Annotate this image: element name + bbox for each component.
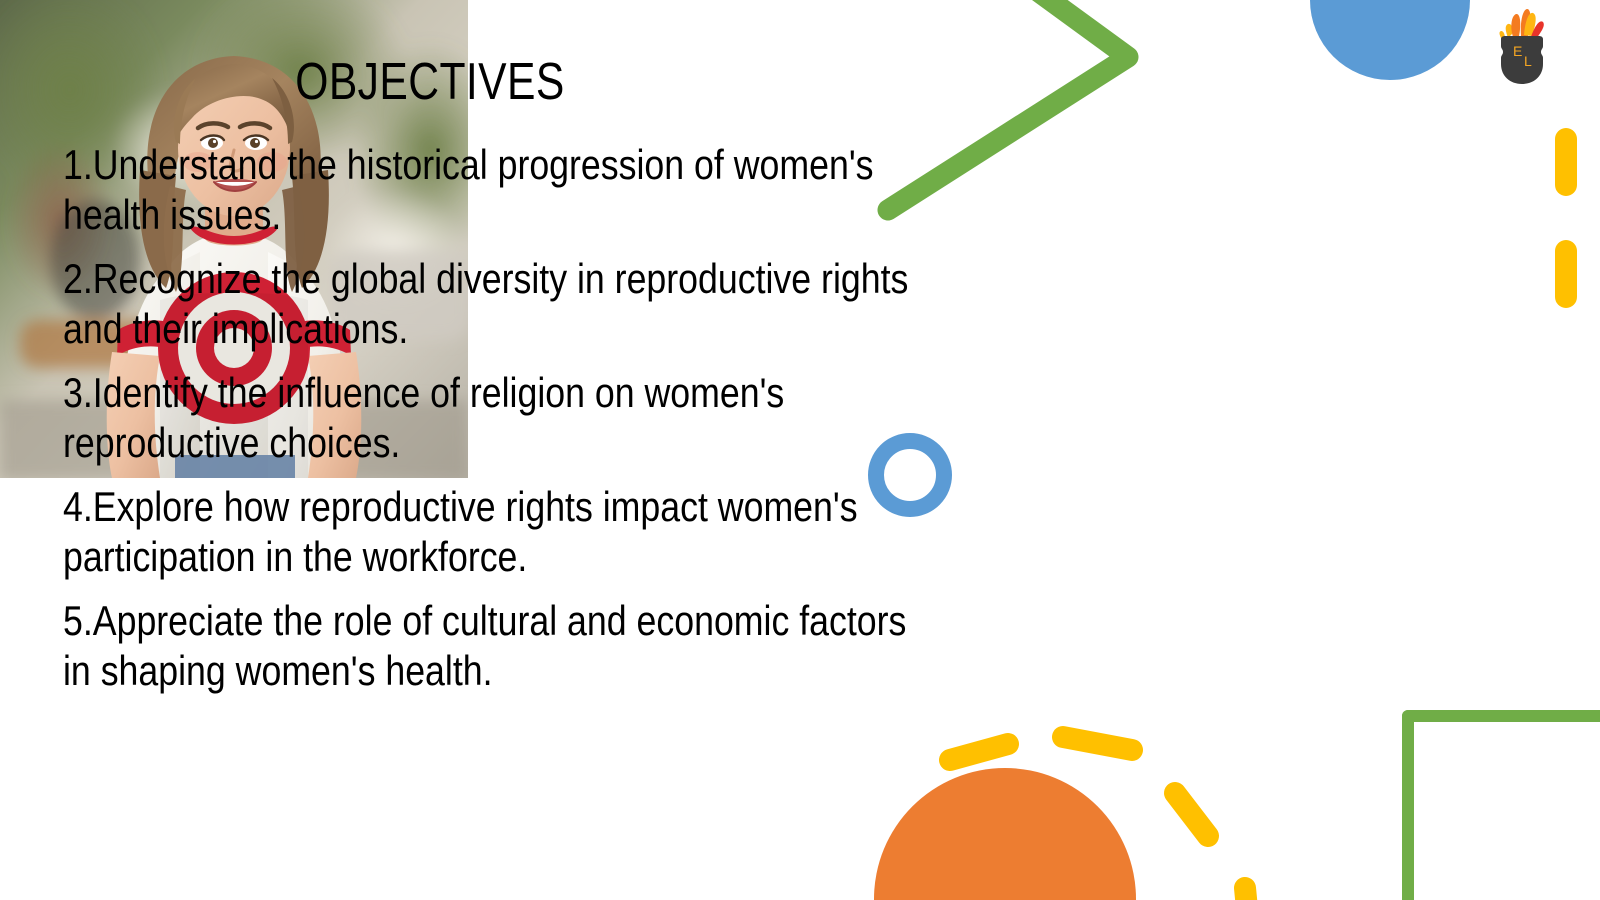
page-title: OBJECTIVES [127, 54, 734, 111]
list-item: 2.Recognize the global diversity in repr… [63, 254, 923, 353]
el-brain-flame-logo: E L [1494, 4, 1550, 86]
logo-letter-l: L [1524, 53, 1532, 69]
objectives-list: 1.Understand the historical progression … [63, 140, 923, 710]
blue-circle-decoration [1310, 0, 1470, 80]
list-item: 1.Understand the historical progression … [63, 140, 923, 239]
list-item: 5.Appreciate the role of cultural and ec… [63, 596, 923, 695]
presentation-slide: E L [0, 0, 1600, 900]
yellow-dashed-arc-decoration [860, 640, 1280, 900]
yellow-dash-decoration [1555, 128, 1577, 196]
list-item: 3.Identify the influence of religion on … [63, 368, 923, 467]
green-rectangle-outline-decoration [1402, 710, 1600, 900]
logo-letter-e: E [1513, 43, 1522, 59]
list-item: 4.Explore how reproductive rights impact… [63, 482, 923, 581]
yellow-dash-decoration [1555, 240, 1577, 308]
